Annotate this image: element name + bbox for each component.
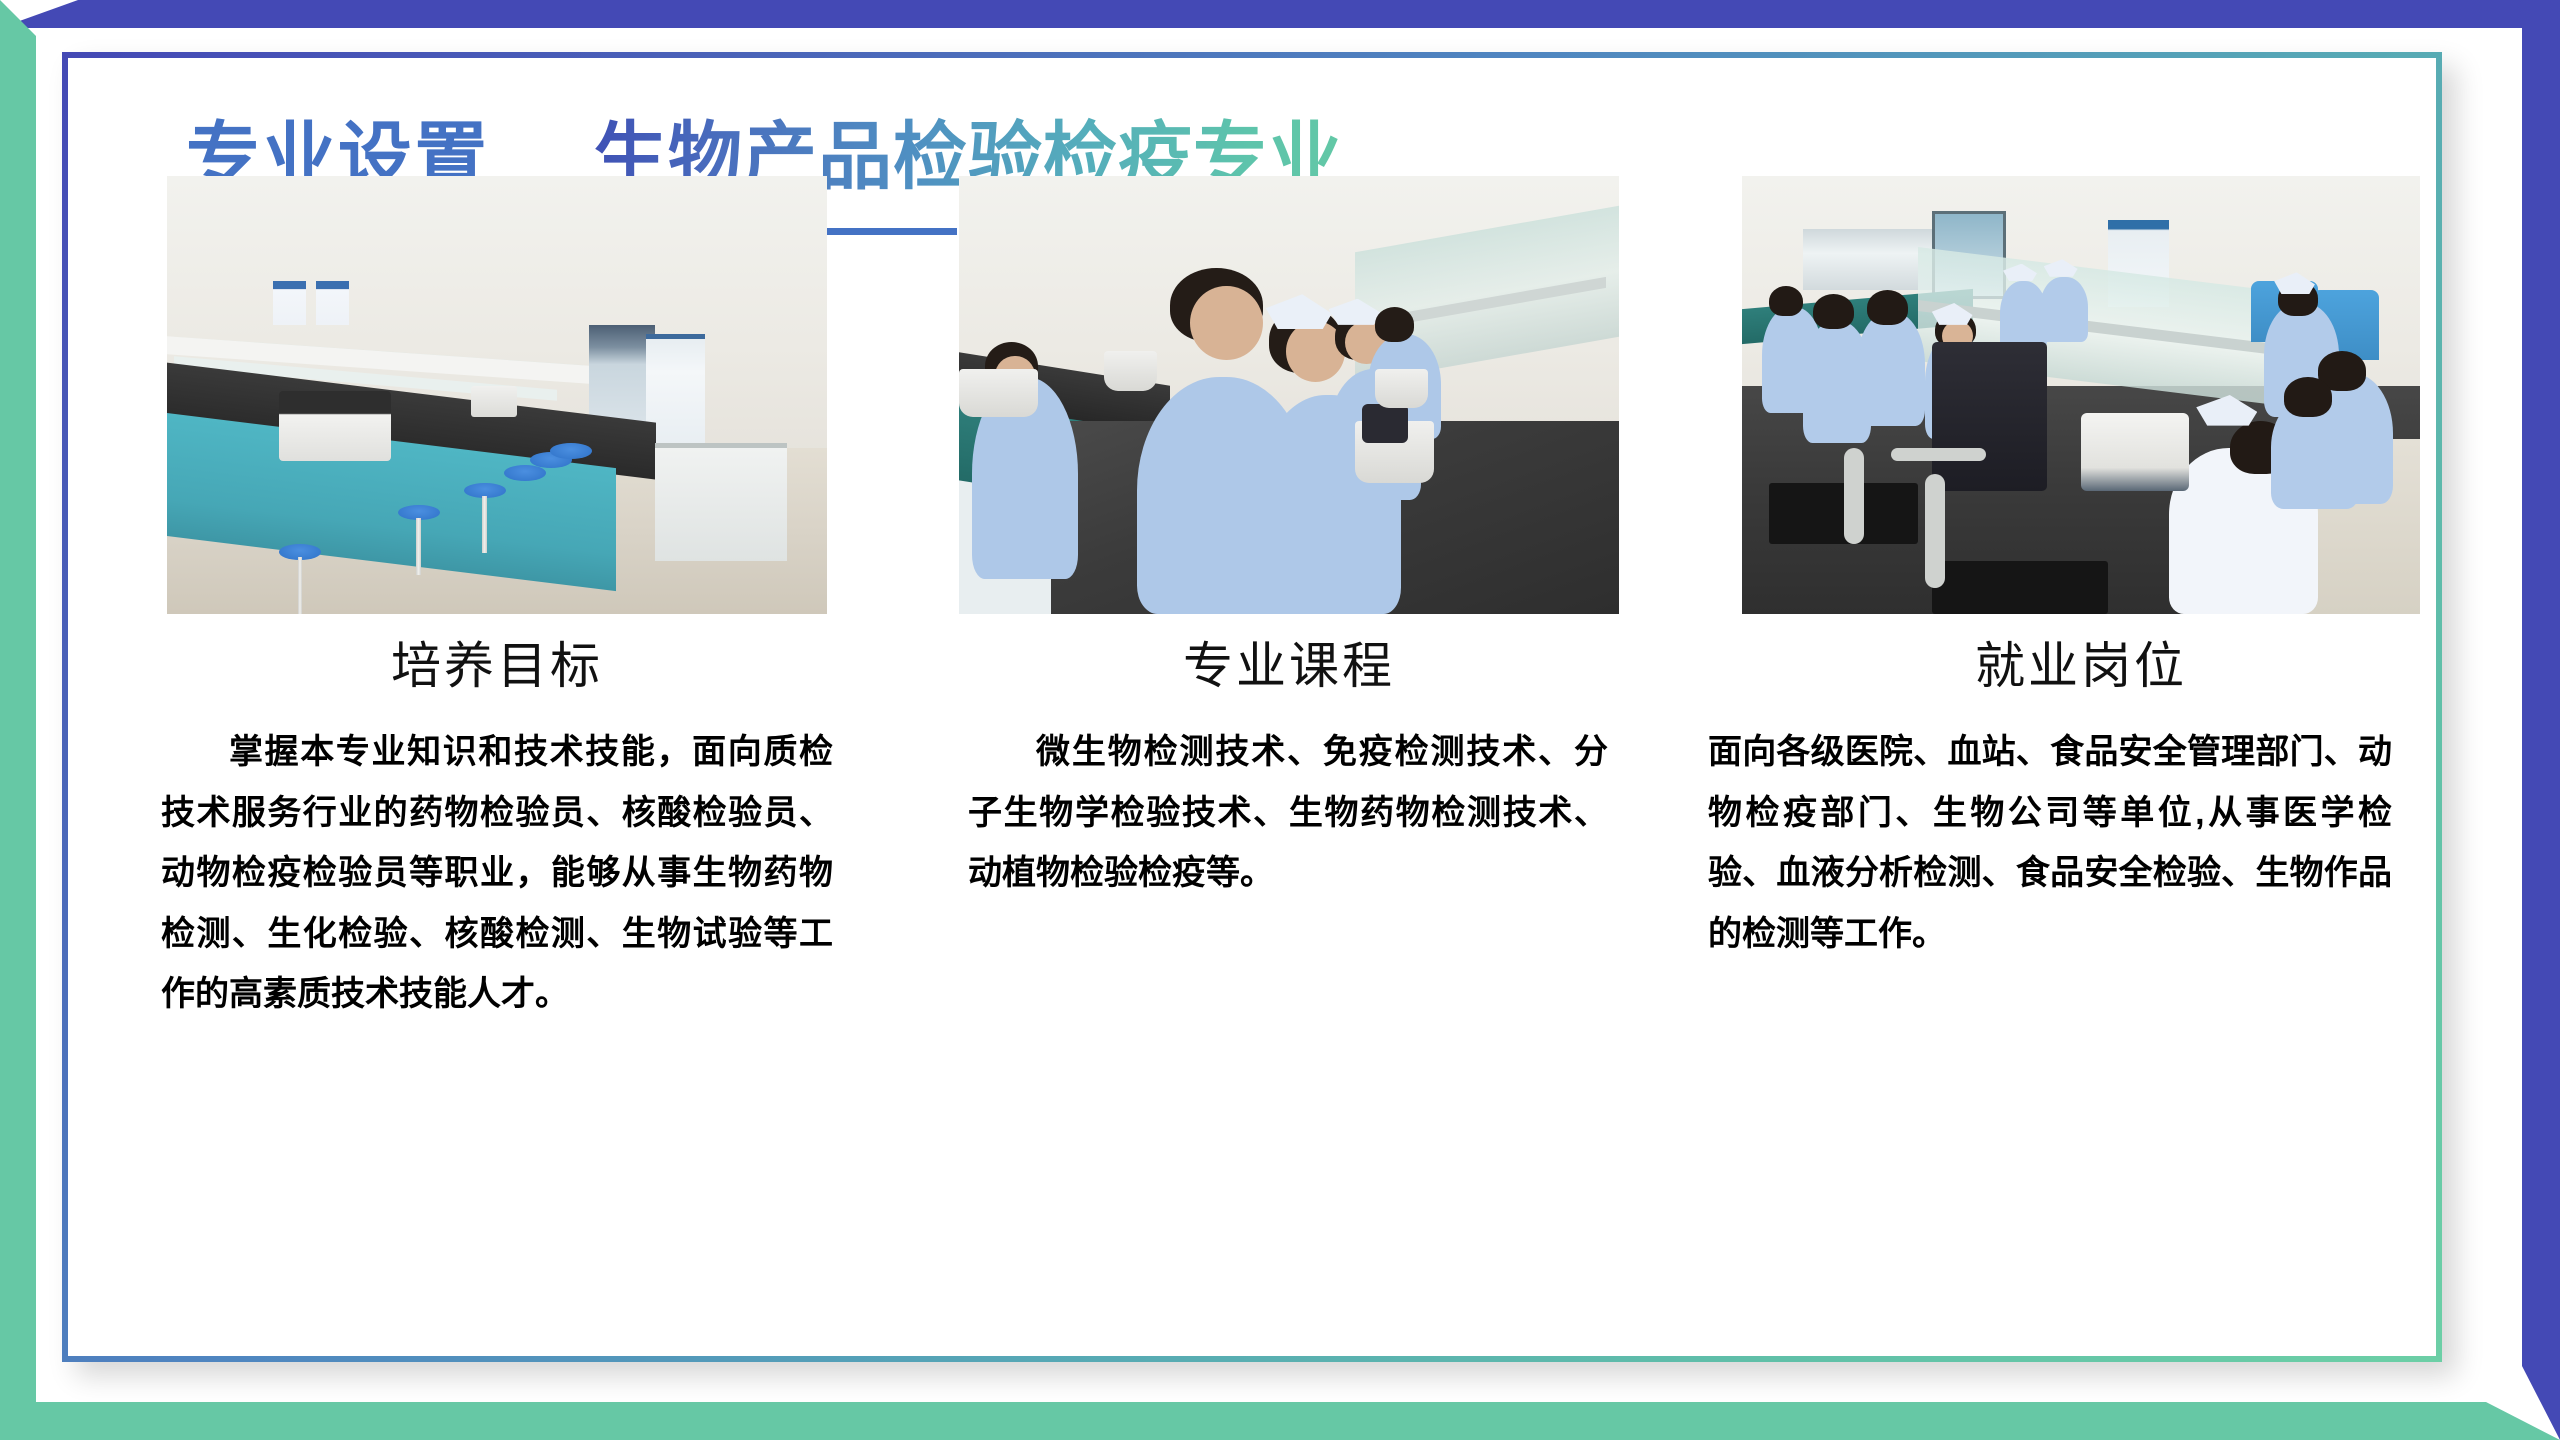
frame-strip-right	[2522, 0, 2560, 1440]
frame-strip-bottom	[0, 1402, 2560, 1440]
photo-students-microscope	[959, 176, 1619, 614]
section-heading-1: 培养目标	[102, 636, 892, 696]
column-employment: 就业岗位 面向各级医院、血站、食品安全管理部门、动物检疫部门、生物公司等单位,从…	[1686, 176, 2436, 1306]
section-body-1: 掌握本专业知识和技术技能，面向质检技术服务行业的药物检验员、核酸检验员、动物检疫…	[161, 722, 833, 1025]
content-card: 专业设置 生物产品检验检疫专业	[62, 52, 2442, 1362]
column-cultivation-goal: 培养目标 掌握本专业知识和技术技能，面向质检技术服务行业的药物检验员、核酸检验员…	[102, 176, 892, 1306]
content-card-inner: 专业设置 生物产品检验检疫专业	[68, 58, 2436, 1356]
section-heading-2: 专业课程	[894, 636, 1684, 696]
slide-root: 专业设置 生物产品检验检疫专业	[0, 0, 2560, 1440]
section-body-3: 面向各级医院、血站、食品安全管理部门、动物检疫部门、生物公司等单位,从事医学检验…	[1708, 722, 2392, 964]
section-heading-3: 就业岗位	[1686, 636, 2436, 696]
section-body-2: 微生物检测技术、免疫检测技术、分子生物学检验技术、生物药物检测技术、动植物检验检…	[968, 722, 1608, 904]
column-courses: 专业课程 微生物检测技术、免疫检测技术、分子生物学检验技术、生物药物检测技术、动…	[894, 176, 1684, 1306]
columns-container: 培养目标 掌握本专业知识和技术技能，面向质检技术服务行业的药物检验员、核酸检验员…	[68, 176, 2436, 1306]
frame-strip-top	[0, 0, 2560, 28]
photo-lab-overview	[1742, 176, 2420, 614]
photo-lab-room	[167, 176, 827, 614]
frame-strip-left	[0, 0, 36, 1440]
